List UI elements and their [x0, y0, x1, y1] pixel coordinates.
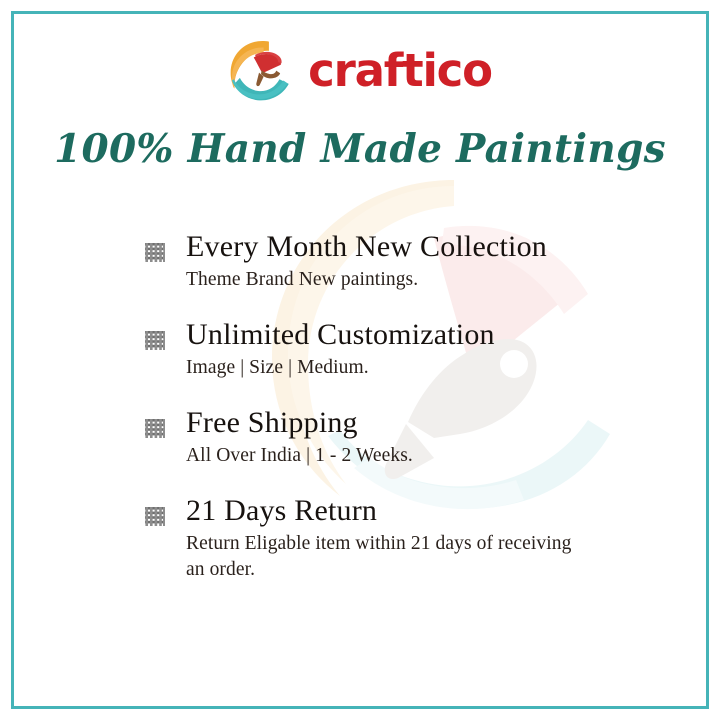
- feature-subtitle: Image | Size | Medium.: [186, 355, 586, 381]
- woven-square-bullet-icon: [144, 242, 166, 263]
- feature-title: 21 Days Return: [186, 495, 614, 527]
- list-item: Unlimited Customization Image | Size | M…: [144, 319, 614, 389]
- list-item: 21 Days Return Return Eligable item with…: [144, 495, 614, 583]
- banner-canvas: craftico 100% Hand Made Paintings: [0, 0, 720, 720]
- list-item: Every Month New Collection Theme Brand N…: [144, 231, 614, 301]
- feature-subtitle: Return Eligable item within 21 days of r…: [186, 531, 586, 583]
- feature-subtitle: Theme Brand New paintings.: [186, 267, 586, 293]
- feature-list: Every Month New Collection Theme Brand N…: [144, 231, 614, 583]
- feature-title: Every Month New Collection: [186, 231, 614, 263]
- feature-title: Free Shipping: [186, 407, 614, 439]
- craftico-logo-icon: [228, 37, 294, 103]
- page-title: 100% Hand Made Paintings: [0, 126, 720, 172]
- woven-square-bullet-icon: [144, 330, 166, 351]
- woven-square-bullet-icon: [144, 418, 166, 439]
- feature-title: Unlimited Customization: [186, 319, 614, 351]
- woven-square-bullet-icon: [144, 506, 166, 527]
- brand-wordmark: craftico: [308, 48, 492, 93]
- list-item: Free Shipping All Over India | 1 - 2 Wee…: [144, 407, 614, 477]
- feature-subtitle: All Over India | 1 - 2 Weeks.: [186, 443, 586, 469]
- brand-lockup: craftico: [0, 32, 720, 108]
